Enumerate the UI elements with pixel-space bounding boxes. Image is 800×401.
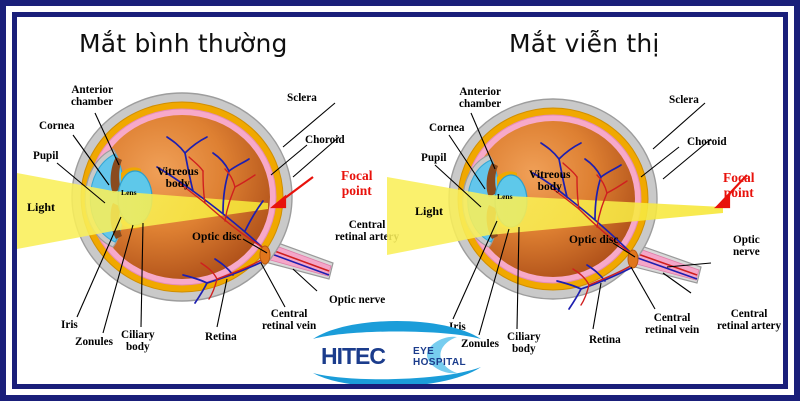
logo-sub-hospital: HOSPITAL bbox=[413, 357, 466, 368]
label-retina-right: Retina bbox=[589, 335, 621, 347]
label-ciliary-body-right: Ciliary body bbox=[507, 332, 541, 356]
label-anterior-chamber-right: Anterior chamber bbox=[459, 87, 501, 111]
poster-frame-outer: Mắt bình thường Mắt viễn thị bbox=[0, 0, 800, 401]
label-choroid-right: Choroid bbox=[687, 137, 727, 149]
anterior-chamber-line1: Anterior bbox=[71, 84, 113, 96]
label-sclera-right: Sclera bbox=[669, 95, 699, 107]
label-lens-left: Lens bbox=[121, 187, 137, 199]
label-pupil-left: Pupil bbox=[33, 151, 59, 163]
label-optic-nerve-right: Optic nerve bbox=[733, 235, 760, 259]
label-sclera-left: Sclera bbox=[287, 93, 317, 105]
label-vitreous-body-left: Vitreous body bbox=[157, 167, 199, 191]
label-central-retinal-vein-right: Central retinal vein bbox=[645, 313, 699, 337]
focal-line1-left: Focal bbox=[341, 168, 373, 183]
crv-line1-left: Central bbox=[271, 308, 308, 320]
vitreous-line2-right: body bbox=[538, 181, 562, 193]
cra-line1-right: Central bbox=[731, 308, 768, 320]
anterior-chamber-line1-right: Anterior bbox=[459, 86, 501, 98]
label-zonules-left: Zonules bbox=[75, 337, 113, 349]
ciliary-line1: Ciliary bbox=[121, 329, 155, 341]
label-light-left: Light bbox=[27, 202, 55, 214]
hitec-eye-hospital-logo: HITEC EYE HOSPITAL bbox=[307, 317, 487, 384]
optic-disc bbox=[628, 250, 638, 268]
optic-nerve-line1-right: Optic bbox=[733, 234, 760, 246]
logo-swoosh-bottom bbox=[313, 367, 481, 384]
vitreous-line2: body bbox=[166, 178, 190, 190]
label-iris-left: Iris bbox=[61, 320, 78, 332]
logo-sub-eye: EYE bbox=[413, 346, 434, 357]
anterior-chamber-line2: chamber bbox=[71, 96, 113, 108]
logo-wordmark: HITEC bbox=[321, 343, 385, 369]
label-cornea-right: Cornea bbox=[429, 123, 464, 135]
label-lens-right: Lens bbox=[497, 191, 513, 203]
logo-swoosh-top bbox=[313, 321, 481, 339]
label-cornea-left: Cornea bbox=[39, 121, 74, 133]
label-focal-point-right: Focal point bbox=[723, 171, 755, 200]
diagram-canvas: Mắt bình thường Mắt viễn thị bbox=[17, 17, 783, 384]
label-choroid-left: Choroid bbox=[305, 135, 345, 147]
label-central-retinal-artery-right: Central retinal artery bbox=[717, 309, 781, 333]
focal-line1-right: Focal bbox=[723, 170, 755, 185]
label-retina-left: Retina bbox=[205, 332, 237, 344]
cra-line1-left: Central bbox=[349, 219, 386, 231]
ciliary-line2-right: body bbox=[512, 343, 536, 355]
label-optic-disc-right: Optic disc bbox=[569, 235, 619, 247]
crv-line2-right: retinal vein bbox=[645, 324, 699, 336]
label-anterior-chamber-left: Anterior chamber bbox=[71, 85, 113, 109]
focal-line2-right: point bbox=[724, 185, 754, 200]
label-vitreous-body-right: Vitreous body bbox=[529, 170, 571, 194]
ciliary-line1-right: Ciliary bbox=[507, 331, 541, 343]
vitreous-line1: Vitreous bbox=[157, 166, 199, 178]
optic-nerve-line2-right: nerve bbox=[733, 246, 760, 258]
ciliary-line2: body bbox=[126, 341, 150, 353]
vitreous-line1-right: Vitreous bbox=[529, 169, 571, 181]
label-pupil-right: Pupil bbox=[421, 153, 447, 165]
optic-disc bbox=[260, 246, 270, 264]
crv-line1-right: Central bbox=[654, 312, 691, 324]
cra-line2-right: retinal artery bbox=[717, 320, 781, 332]
label-optic-disc-left: Optic disc bbox=[192, 232, 242, 244]
label-focal-point-left: Focal point bbox=[341, 169, 373, 198]
label-optic-nerve-left: Optic nerve bbox=[329, 295, 385, 307]
label-ciliary-body-left: Ciliary body bbox=[121, 330, 155, 354]
focal-line2-left: point bbox=[342, 183, 372, 198]
label-light-right: Light bbox=[415, 206, 443, 218]
anterior-chamber-line2-right: chamber bbox=[459, 98, 501, 110]
